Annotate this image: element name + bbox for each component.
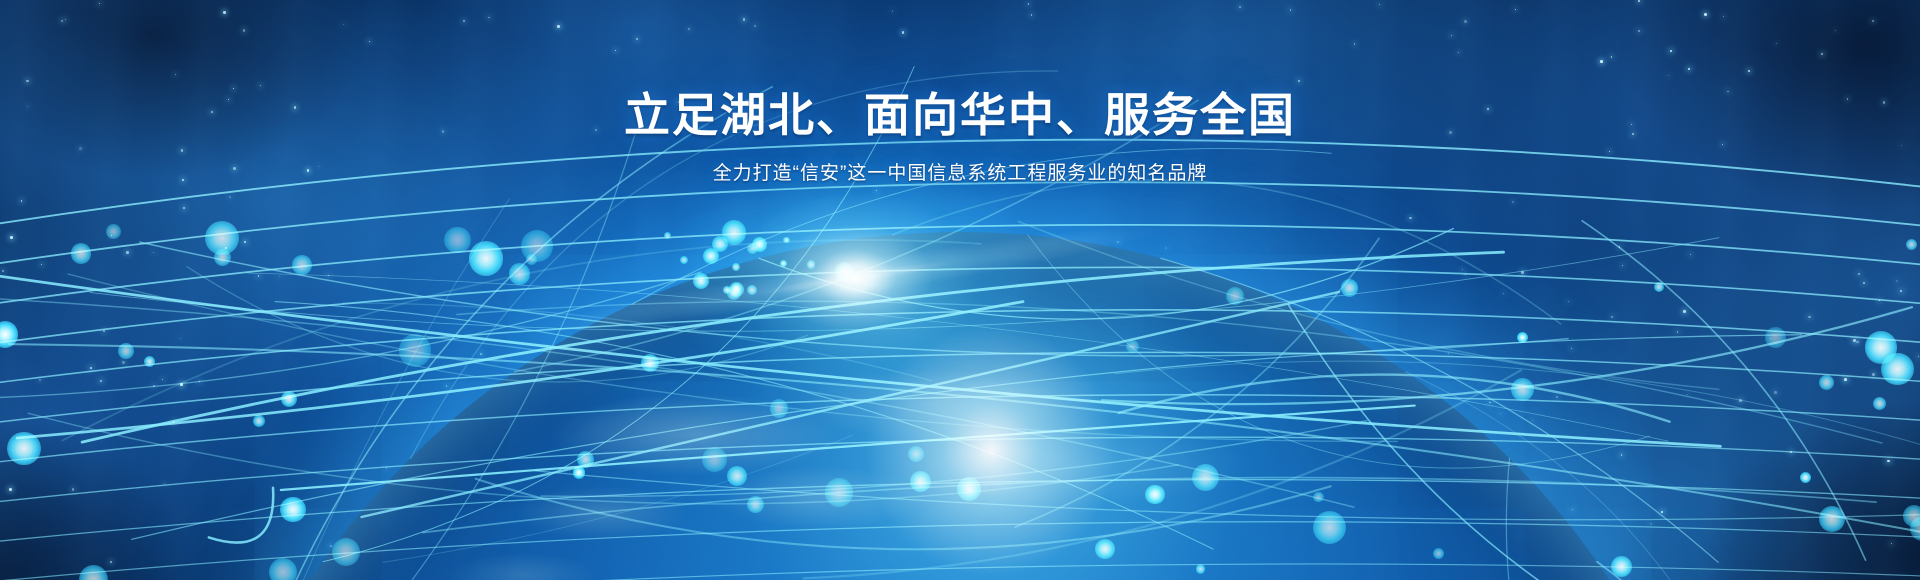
hero-subheadline: 全力打造“信安”这一中国信息系统工程服务业的知名品牌 <box>0 164 1920 183</box>
hero-headline: 立足湖北、面向华中、服务全国 <box>0 92 1920 138</box>
hero-copy: 立足湖北、面向华中、服务全国 全力打造“信安”这一中国信息系统工程服务业的知名品… <box>0 92 1920 183</box>
hero-banner: 立足湖北、面向华中、服务全国 全力打造“信安”这一中国信息系统工程服务业的知名品… <box>0 0 1920 580</box>
network-mesh-icon <box>0 0 1920 580</box>
